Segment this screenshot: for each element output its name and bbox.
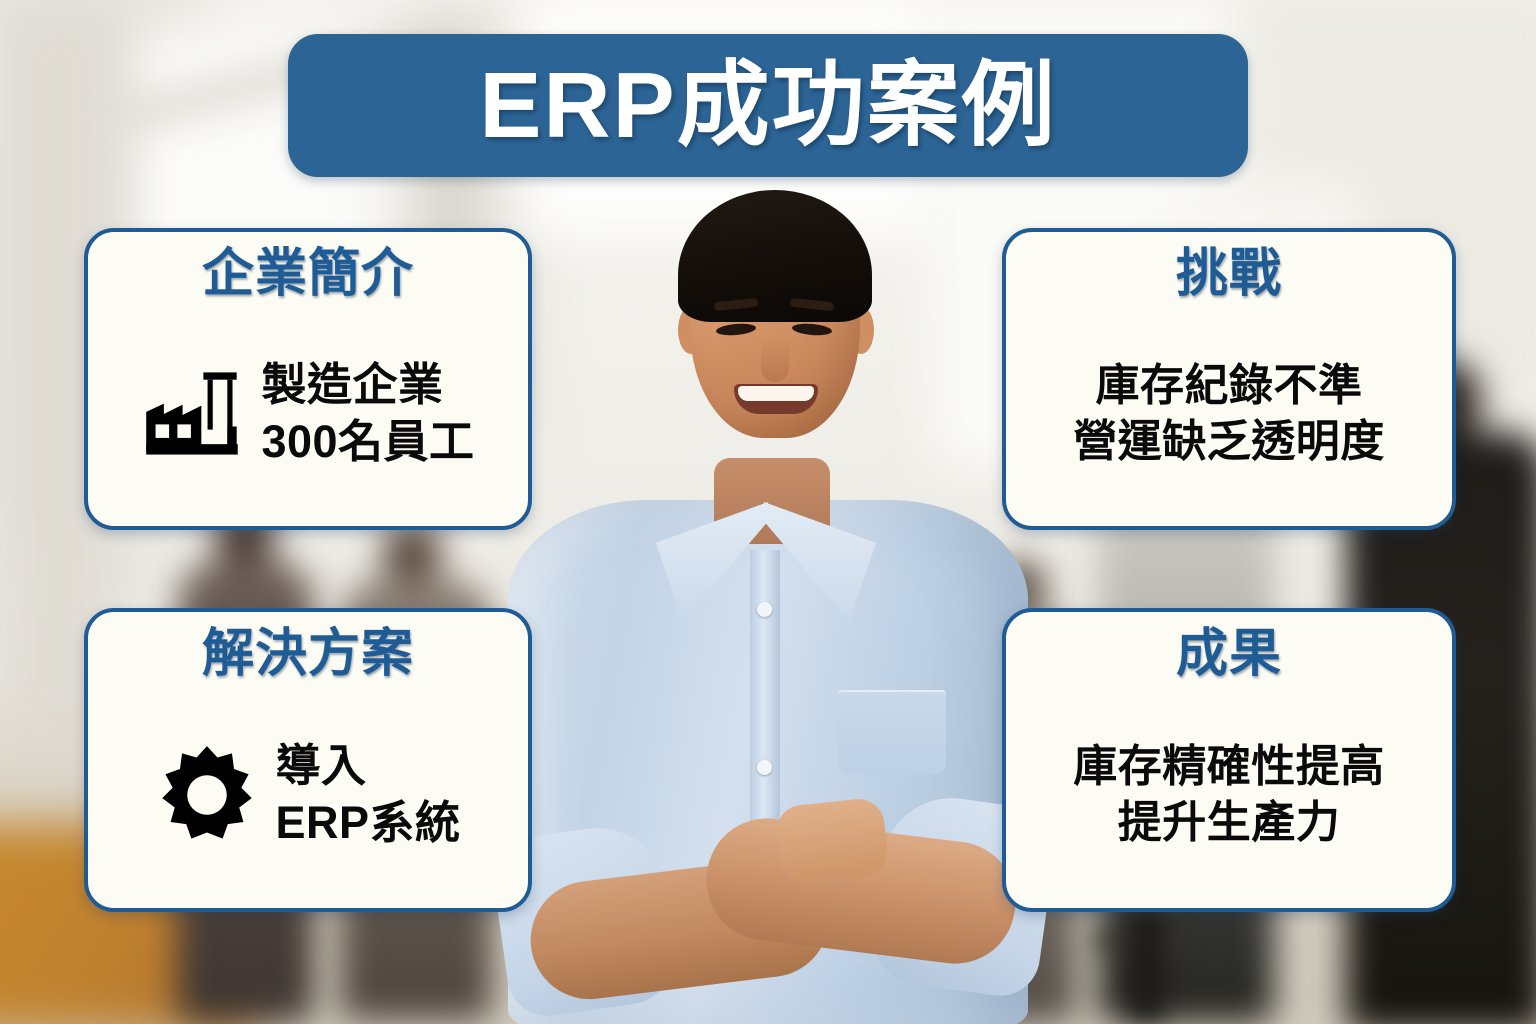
factory-icon xyxy=(141,362,245,466)
card-line: ERP系統 xyxy=(275,796,460,851)
card-line: 庫存紀錄不準 xyxy=(1096,359,1363,413)
card-line: 營運缺乏透明度 xyxy=(1073,415,1385,469)
card-line: 導入 xyxy=(275,739,366,794)
title-banner: ERP成功案例 xyxy=(288,34,1248,177)
gear-icon xyxy=(155,743,259,847)
card-line: 庫存精確性提高 xyxy=(1073,740,1385,794)
nose xyxy=(761,338,789,382)
card-line: 300名員工 xyxy=(261,415,474,470)
smiling-mouth xyxy=(734,384,818,414)
businessman-photo xyxy=(478,170,1058,1024)
card-lines-challenge: 庫存紀錄不準 營運缺乏透明度 xyxy=(1073,359,1385,468)
card-body-company-profile: 製造企業 300名員工 xyxy=(104,318,512,510)
card-title-results: 成果 xyxy=(1176,626,1282,682)
card-title-challenge: 挑戰 xyxy=(1176,246,1282,302)
card-title-company-profile: 企業簡介 xyxy=(202,246,414,302)
page-title: ERP成功案例 xyxy=(479,59,1056,152)
crossed-hand xyxy=(774,797,890,886)
card-company-profile: 企業簡介 製造企業 300名員工 xyxy=(84,228,532,530)
infographic-stage: ERP成功案例 企業簡介 製造企業 300名員工 xyxy=(0,0,1536,1024)
card-results: 成果 庫存精確性提高 提升生產力 xyxy=(1002,608,1456,912)
shirt-button xyxy=(757,602,772,617)
card-lines-solution: 導入 ERP系統 xyxy=(275,739,460,851)
card-line: 提升生產力 xyxy=(1118,796,1341,850)
card-title-solution: 解決方案 xyxy=(202,626,414,682)
card-body-results: 庫存精確性提高 提升生產力 xyxy=(1022,698,1436,892)
card-body-challenge: 庫存紀錄不準 營運缺乏透明度 xyxy=(1022,318,1436,510)
card-line: 製造企業 xyxy=(261,358,443,413)
hair xyxy=(678,190,872,322)
card-lines-company-profile: 製造企業 300名員工 xyxy=(261,358,474,470)
card-body-solution: 導入 ERP系統 xyxy=(104,698,512,892)
card-challenge: 挑戰 庫存紀錄不準 營運缺乏透明度 xyxy=(1002,228,1456,530)
card-lines-results: 庫存精確性提高 提升生產力 xyxy=(1073,740,1385,849)
shirt-button xyxy=(757,760,772,775)
card-solution: 解決方案 導入 ERP系統 xyxy=(84,608,532,912)
shirt-pocket xyxy=(838,690,946,774)
background-prop xyxy=(1130,910,1164,1020)
